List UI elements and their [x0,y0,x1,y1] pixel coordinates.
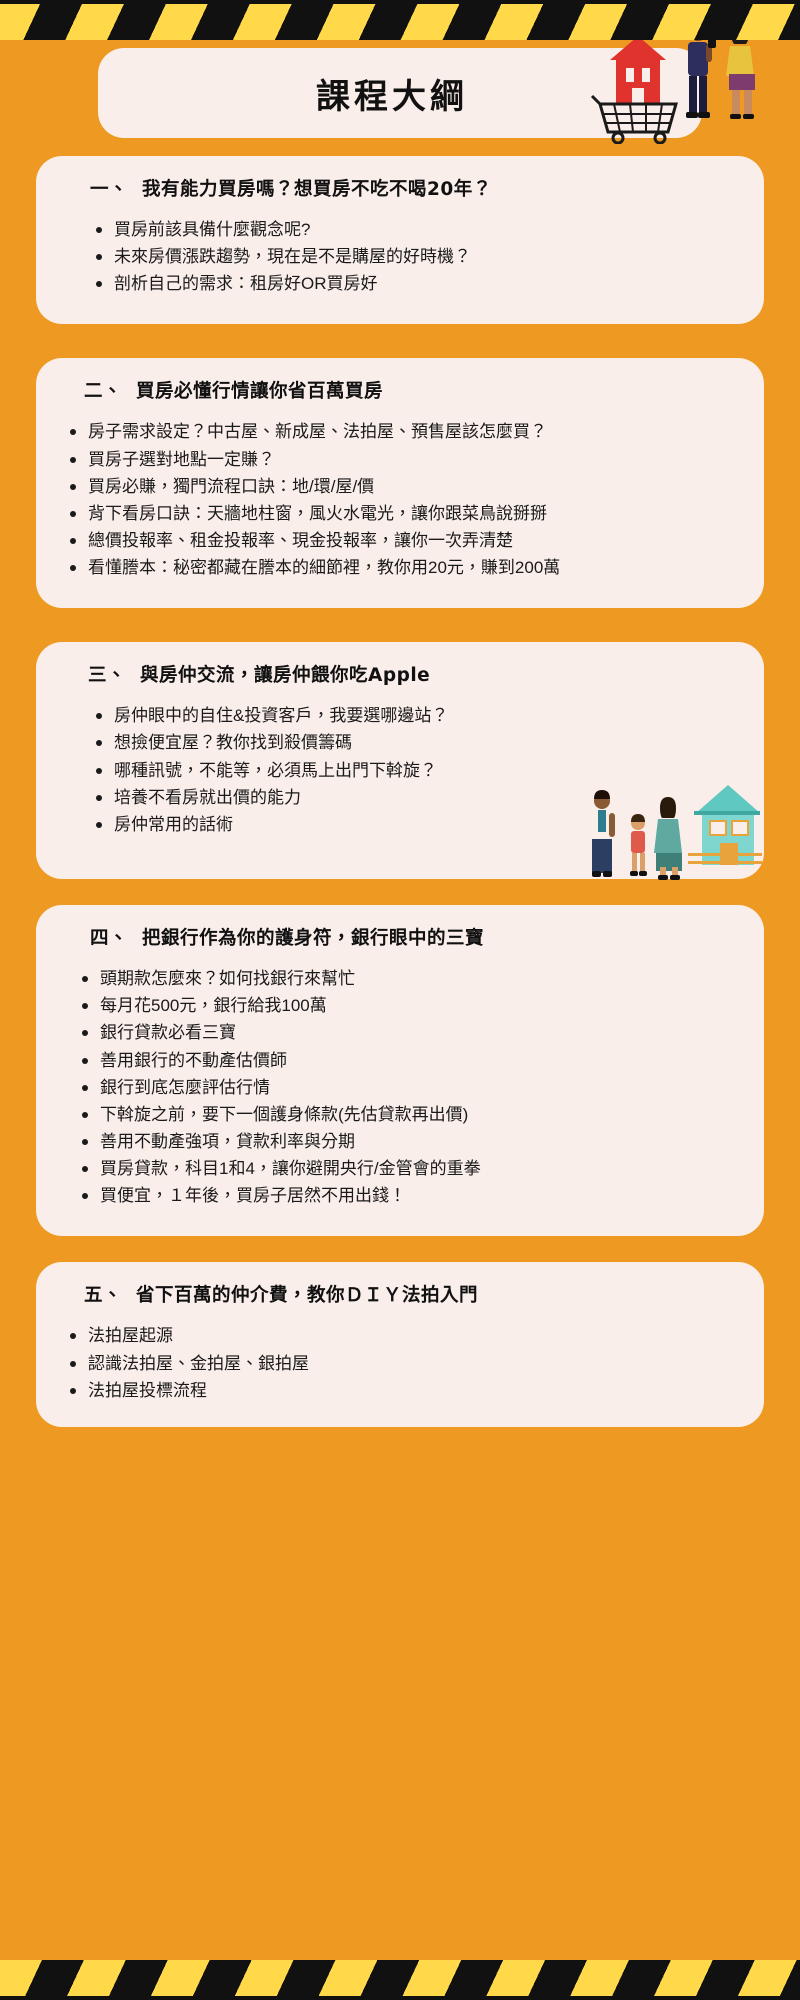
page-title: 課程大綱 [316,69,468,118]
hazard-stripe-bottom-edge [0,1996,800,2000]
list-item: 房仲眼中的自住&投資客戶，我要選哪邊站？ [96,703,738,728]
list-item: 認識法拍屋、金拍屋、銀拍屋 [70,1351,738,1376]
list-item: 總價投報率、租金投報率、現金投報率，讓你一次弄清楚 [70,528,738,553]
section-title-5: 五、省下百萬的仲介費，教你ＤＩＹ法拍入門 [62,1284,738,1309]
section-title-3: 三、與房仲交流，讓房仲餵你吃Apple [62,664,738,689]
section-card-3: 三、與房仲交流，讓房仲餵你吃Apple 房仲眼中的自住&投資客戶，我要選哪邊站？… [36,642,764,879]
section-number-5: 五、 [84,1285,122,1306]
list-item: 未來房價漲跌趨勢，現在是不是購屋的好時機？ [96,244,738,269]
list-item: 銀行貸款必看三寶 [82,1020,738,1045]
section-heading-5: 省下百萬的仲介費，教你ＤＩＹ法拍入門 [136,1285,478,1306]
list-item: 每月花500元，銀行給我100萬 [82,993,738,1018]
section-number-2: 二、 [84,381,122,402]
section-heading-3: 與房仲交流，讓房仲餵你吃Apple [140,665,430,686]
section-list-4: 頭期款怎麼來？如何找銀行來幫忙 每月花500元，銀行給我100萬 銀行貸款必看三… [62,966,738,1208]
section-number-4: 四、 [90,928,128,949]
hazard-stripe-top [0,0,800,40]
section-card-2: 二、買房必懂行情讓你省百萬買房 房子需求設定？中古屋、新成屋、法拍屋、預售屋該怎… [36,358,764,608]
list-item: 善用不動產強項，貸款利率與分期 [82,1129,738,1154]
section-heading-1: 我有能力買房嗎？想買房不吃不喝20年？ [142,179,492,200]
list-item: 剖析自己的需求：租房好OR買房好 [96,271,738,296]
list-item: 善用銀行的不動產估價師 [82,1048,738,1073]
section-number-3: 三、 [88,665,126,686]
section-list-2: 房子需求設定？中古屋、新成屋、法拍屋、預售屋該怎麼買？ 買房子選對地點一定賺？ … [62,419,738,580]
course-outline-poster: 課程大綱 [0,0,800,2000]
list-item: 買房子選對地點一定賺？ [70,447,738,472]
sections-container: 一、我有能力買房嗎？想買房不吃不喝20年？ 買房前該具備什麼觀念呢? 未來房價漲… [0,138,800,1427]
section-number-1: 一、 [90,179,128,200]
section-card-4: 四、把銀行作為你的護身符，銀行眼中的三寶 頭期款怎麼來？如何找銀行來幫忙 每月花… [36,905,764,1236]
list-item: 背下看房口訣：天牆地柱窗，風火水電光，讓你跟菜鳥說掰掰 [70,501,738,526]
section-heading-2: 買房必懂行情讓你省百萬買房 [136,381,383,402]
list-item: 銀行到底怎麼評估行情 [82,1075,738,1100]
section-title-1: 一、我有能力買房嗎？想買房不吃不喝20年？ [62,178,738,203]
list-item: 哪種訊號，不能等，必須馬上出門下斡旋？ [96,758,738,783]
list-item: 買房貸款，科目1和4，讓你避開央行/金管會的重拳 [82,1156,738,1181]
hazard-stripe-top-edge [0,0,800,4]
list-item: 法拍屋投標流程 [70,1378,738,1403]
list-item: 買房前該具備什麼觀念呢? [96,217,738,242]
list-item: 頭期款怎麼來？如何找銀行來幫忙 [82,966,738,991]
list-item: 下斡旋之前，要下一個護身條款(先估貸款再出價) [82,1102,738,1127]
section-list-5: 法拍屋起源 認識法拍屋、金拍屋、銀拍屋 法拍屋投標流程 [62,1323,738,1402]
section-title-4: 四、把銀行作為你的護身符，銀行眼中的三寶 [62,927,738,952]
section-title-2: 二、買房必懂行情讓你省百萬買房 [62,380,738,405]
list-item: 培養不看房就出價的能力 [96,785,738,810]
list-item: 房子需求設定？中古屋、新成屋、法拍屋、預售屋該怎麼買？ [70,419,738,444]
section-list-3: 房仲眼中的自住&投資客戶，我要選哪邊站？ 想撿便宜屋？教你找到殺價籌碼 哪種訊號… [62,703,738,837]
section-heading-4: 把銀行作為你的護身符，銀行眼中的三寶 [142,928,484,949]
section-list-1: 買房前該具備什麼觀念呢? 未來房價漲跌趨勢，現在是不是購屋的好時機？ 剖析自己的… [62,217,738,296]
section-card-1: 一、我有能力買房嗎？想買房不吃不喝20年？ 買房前該具備什麼觀念呢? 未來房價漲… [36,156,764,324]
header-card: 課程大綱 [98,48,702,138]
hazard-stripe-bottom [0,1960,800,2000]
list-item: 想撿便宜屋？教你找到殺價籌碼 [96,730,738,755]
list-item: 買房必賺，獨門流程口訣：地/環/屋/價 [70,474,738,499]
list-item: 法拍屋起源 [70,1323,738,1348]
section-card-5: 五、省下百萬的仲介費，教你ＤＩＹ法拍入門 法拍屋起源 認識法拍屋、金拍屋、銀拍屋… [36,1262,764,1426]
list-item: 買便宜，１年後，買房子居然不用出錢！ [82,1183,738,1208]
list-item: 看懂謄本：秘密都藏在謄本的細節裡，教你用20元，賺到200萬 [70,555,738,580]
list-item: 房仲常用的話術 [96,812,738,837]
